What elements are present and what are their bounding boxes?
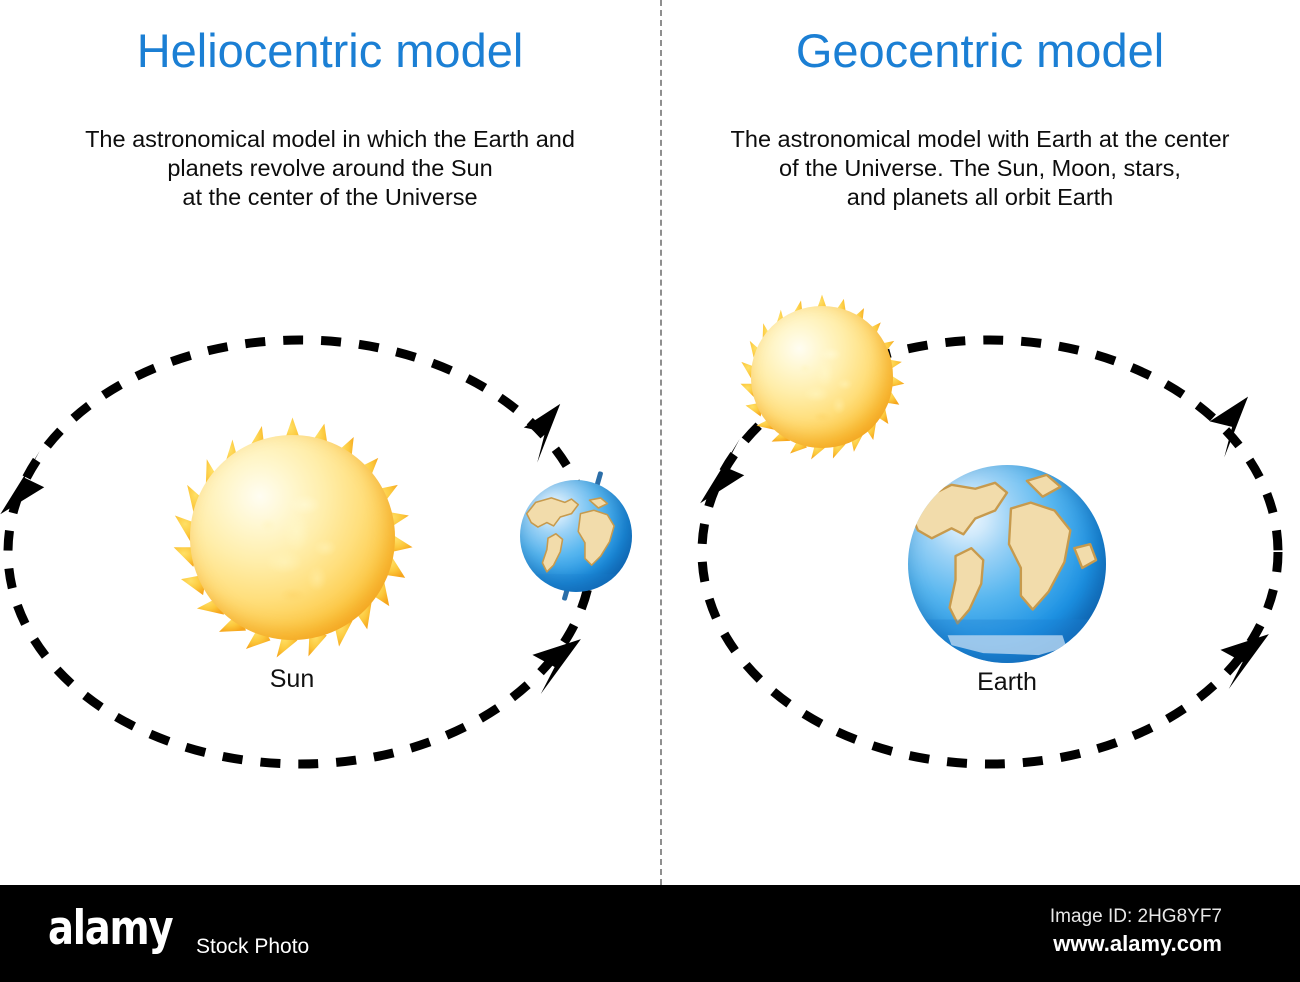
panel-heliocentric: Heliocentric model The astronomical mode… <box>0 0 660 885</box>
earth-sphere <box>520 480 632 592</box>
stock-photo-label: Stock Photo <box>196 935 309 959</box>
watermark-bar: alamy Stock Photo Image ID: 2HG8YF7 www.… <box>0 885 1300 982</box>
earth-continents-icon <box>908 465 1106 663</box>
dashed-divider-icon <box>660 0 662 885</box>
sun-icon <box>170 415 415 660</box>
orbit-arrow-icon <box>1208 397 1252 459</box>
orbit-arrow-icon <box>0 448 47 517</box>
sun-surface-texture <box>751 306 892 447</box>
orbit-arrow-icon <box>1214 626 1269 694</box>
earth-continents-icon <box>520 480 632 592</box>
earth-globe-icon <box>520 480 632 592</box>
alamy-logo: alamy <box>48 905 172 952</box>
illustration-stage: Heliocentric model The astronomical mode… <box>0 0 1300 885</box>
sun-surface-texture <box>190 435 396 641</box>
sun-icon <box>738 293 906 461</box>
earth-label: Earth <box>947 668 1067 697</box>
sun-label: Sun <box>232 665 352 694</box>
image-id-label: Image ID: 2HG8YF7 <box>1050 906 1222 928</box>
earth-globe-icon <box>908 465 1106 663</box>
panel-geocentric: Geocentric model The astronomical model … <box>660 0 1300 885</box>
earth-sphere <box>908 465 1106 663</box>
orbit-arrow-icon <box>526 631 581 699</box>
alamy-url-label[interactable]: www.alamy.com <box>1053 931 1222 957</box>
